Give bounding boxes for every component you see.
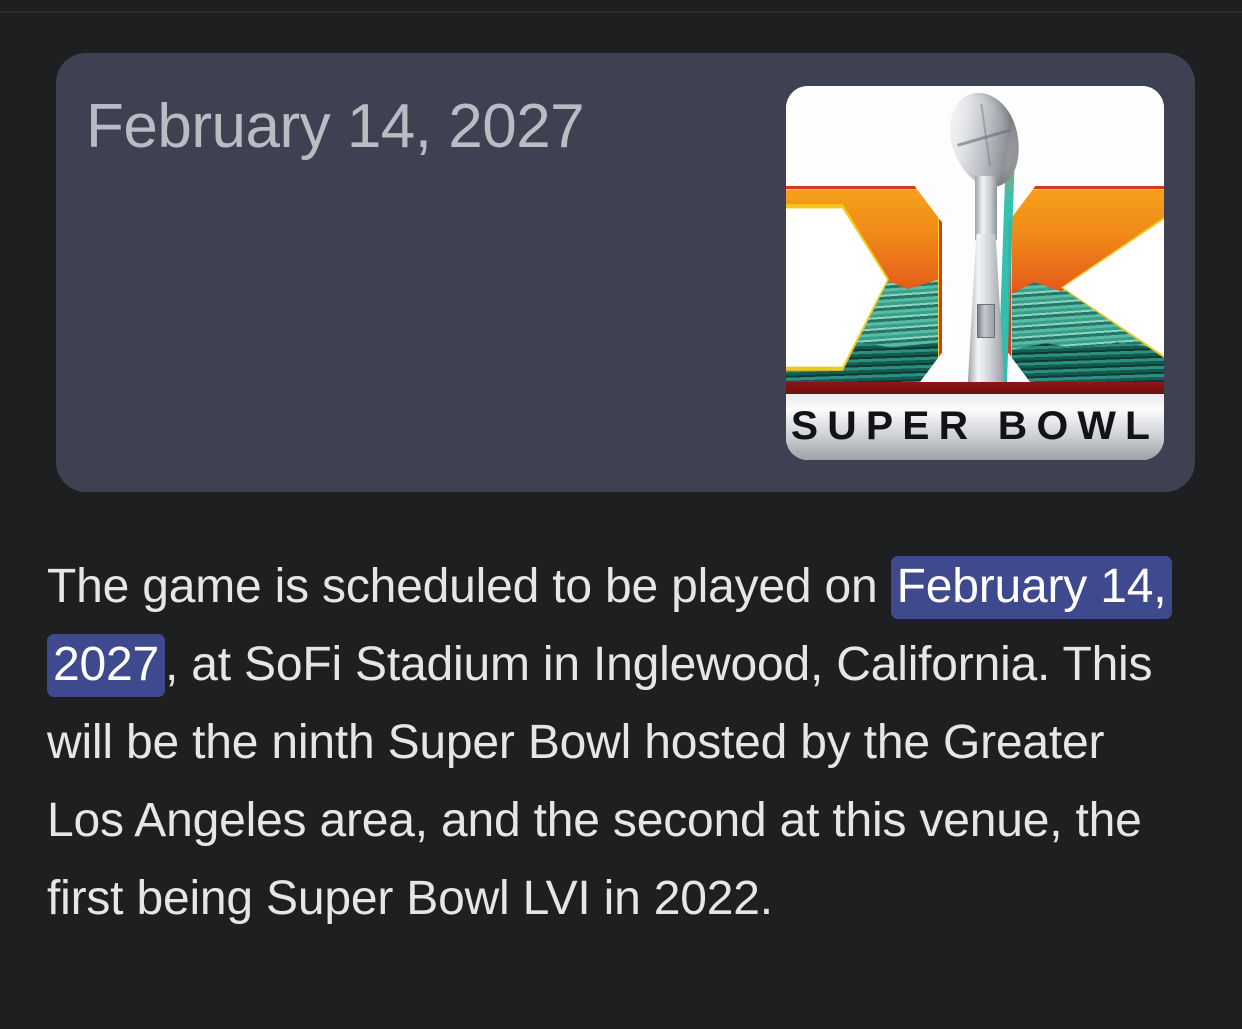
emblem-right [1008,186,1164,389]
trophy-nfl-plate [977,304,995,338]
super-bowl-logo-image[interactable]: SUPER BOWL [786,86,1164,460]
lombardi-trophy-icon [944,92,1026,428]
answer-card[interactable]: February 14, 2027 [56,53,1195,492]
card-date-label: February 14, 2027 [86,93,584,161]
trophy-football-lace [980,103,991,166]
top-divider [0,11,1242,13]
answer-paragraph: The game is scheduled to be played on Fe… [47,548,1187,938]
answer-text-after-highlight: , at SoFi Stadium in Inglewood, Californ… [47,638,1152,925]
logo-band-text: SUPER BOWL [786,404,1164,449]
emblem-left [786,186,942,389]
trophy-neck [975,176,997,240]
logo-red-band [786,382,1164,394]
thumbnail-canvas: SUPER BOWL [786,86,1164,460]
answer-text-before-highlight: The game is scheduled to be played on [47,560,891,613]
